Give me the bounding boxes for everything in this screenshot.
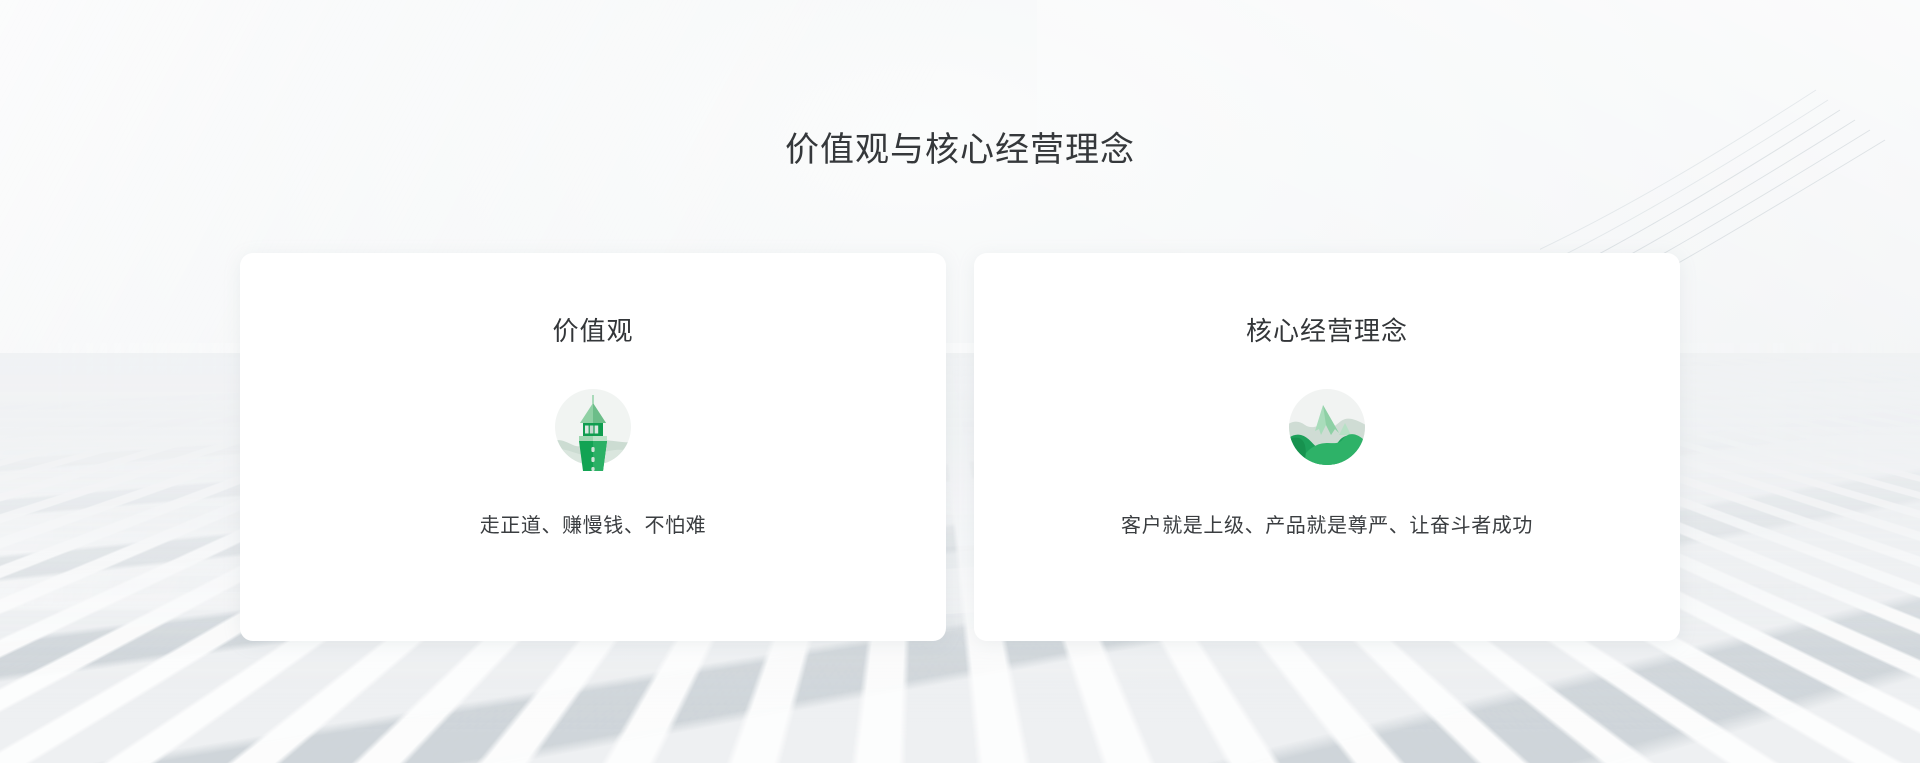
card-row: 价值观 — [240, 253, 1680, 641]
values-card[interactable]: 价值观 — [240, 253, 946, 641]
card-description: 客户就是上级、产品就是尊严、让奋斗者成功 — [1121, 511, 1533, 541]
values-section: 价值观与核心经营理念 价值观 — [0, 0, 1920, 763]
mountain-icon — [1279, 379, 1375, 475]
page-title: 价值观与核心经营理念 — [0, 128, 1920, 172]
card-title: 价值观 — [552, 315, 633, 348]
lighthouse-icon — [545, 379, 641, 475]
card-description: 走正道、赚慢钱、不怕难 — [480, 511, 707, 541]
core-philosophy-card[interactable]: 核心经营理念 — [974, 253, 1680, 641]
card-title: 核心经营理念 — [1246, 315, 1408, 348]
